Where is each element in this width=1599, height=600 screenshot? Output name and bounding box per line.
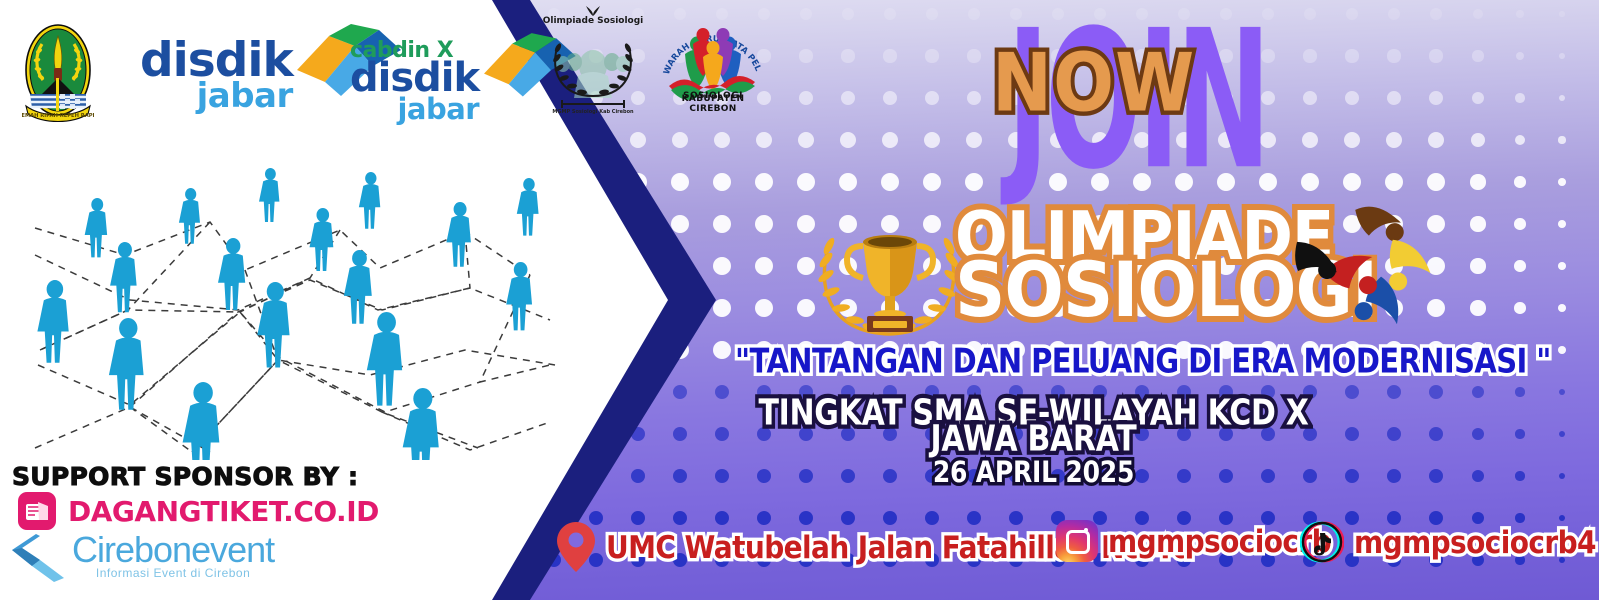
background-dot [881,173,899,191]
olimpiade-logo-caption: Olimpiade Sosiologi [536,16,650,26]
background-dot [884,8,896,20]
background-dot [1472,50,1483,61]
background-dot [841,49,854,62]
background-dot [713,173,731,191]
background-dot [671,173,689,191]
background-dot [841,91,856,106]
trophy-wreath-icon [805,192,975,347]
background-dot [967,49,980,62]
background-dot [1388,8,1400,20]
background-dot [713,215,731,233]
background-dot [923,173,941,191]
mgmp-line2: KABUPATEN CIREBON [657,94,769,114]
background-dot [1472,92,1485,105]
background-dot [924,132,940,148]
background-dot [1430,8,1442,20]
background-dot [840,132,856,148]
background-dot [925,91,940,106]
contact-instagram[interactable]: mgmpsociocrb [1056,520,1331,562]
event-level-line2: JAWA BARAT [234,418,1599,460]
background-dot [1387,91,1402,106]
cirebonevent-tagline: Informasi Event di Cirebon [72,566,274,580]
background-dot [1515,93,1524,102]
background-dot [1470,300,1485,315]
background-dot [1558,178,1566,186]
background-dot [1514,260,1526,272]
sponsor-cirebonevent: Cirebonevent Informasi Event di Cirebon [10,532,274,584]
background-dot [842,8,854,20]
background-dot [755,299,773,317]
colorful-people-icon [1292,196,1442,324]
seal-motto-text: GEMAH RIPAH REPEH RAPIH [22,113,94,119]
disdik-wordmark: disdik [140,40,293,81]
event-banner: GEMAH RIPAH REPEH RAPIH disdik jabar cab… [0,0,1599,600]
background-dot [755,215,773,233]
sponsor-dagangtiket: DAGANGTIKET.CO.ID [18,492,379,530]
cirebonevent-label: Cirebonevent [72,532,274,568]
background-dot [1386,132,1402,148]
event-date: 26 APRIL 2025 [234,455,1599,489]
background-dot [713,341,731,359]
background-dot [883,91,898,106]
cabdin-disdik-wordmark: disdik [350,61,479,96]
background-dot [799,91,814,106]
background-dot [1304,8,1316,20]
tiktok-icon [1300,520,1344,564]
background-dot [1516,52,1524,60]
background-dot [713,299,731,317]
background-dot [714,132,730,148]
background-dot [966,132,982,148]
background-dot [839,173,857,191]
background-dot [1346,8,1358,20]
background-dot [968,8,980,20]
background-dot [1427,173,1445,191]
dagangtiket-label: DAGANGTIKET.CO.ID [68,495,379,528]
now-headline: NOW [992,38,1195,131]
background-dot [1558,220,1566,228]
background-dot [883,49,896,62]
contact-tiktok-label: mgmpsociocrb4 [1354,524,1596,561]
background-dot [1558,136,1565,143]
background-dot [1558,262,1566,270]
background-dot [671,215,689,233]
background-dot [1344,132,1360,148]
olimpiade-logo-footer: MGMP Sosiologi Kab Cirebon [536,109,650,115]
background-dot [630,132,646,148]
background-dot [1514,218,1526,230]
olimpiade-sosiologi-logo: Olimpiade Sosiologi MGMP Sosiologi Kab C… [536,4,650,116]
background-dot [756,132,772,148]
background-dot [965,173,983,191]
background-dot [1387,49,1400,62]
background-dot [755,173,773,191]
background-dot [1303,49,1316,62]
background-dot [1429,49,1442,62]
background-dot [1470,174,1485,189]
instagram-icon [1056,520,1098,562]
contact-instagram-label: mgmpsociocrb [1108,523,1331,560]
dagangtiket-icon [18,492,56,530]
background-dot [1302,132,1318,148]
background-dot [799,49,812,62]
background-dot [755,257,773,275]
background-dot [1558,346,1566,354]
cirebonevent-icon [10,532,66,584]
background-dot [967,91,982,106]
background-dot [882,132,898,148]
background-dot [1345,91,1360,106]
event-tagline: "TANTANGAN DAN PELUANG DI ERA MODERNISAS… [735,341,1551,380]
background-dot [1429,91,1444,106]
background-dot [797,173,815,191]
background-dot [1559,11,1564,16]
background-dot [925,49,938,62]
background-dot [1514,176,1526,188]
background-dot [926,8,938,20]
background-dot [1559,95,1565,101]
background-dot [1559,53,1565,59]
background-dot [1558,304,1566,312]
background-dot [1470,258,1485,273]
contact-tiktok[interactable]: mgmpsociocrb4 [1300,520,1596,564]
background-dot [800,8,812,20]
jabar-seal-logo: GEMAH RIPAH REPEH RAPIH [22,18,94,126]
background-dot [798,132,814,148]
location-pin-icon [556,520,596,574]
mgmp-sosiologi-logo: MUSYAWARAH GURU MATA PELAJARAN SOSIOLOGI… [657,8,769,118]
background-dot [1385,173,1403,191]
background-dot [1516,10,1524,18]
background-dot [1473,9,1483,19]
background-dot [1303,91,1318,106]
background-dot [1470,216,1485,231]
background-dot [1471,133,1485,147]
background-dot [1428,132,1444,148]
background-dot [1345,49,1358,62]
background-dot [1301,173,1319,191]
background-dot [1515,135,1526,146]
background-dot [1514,302,1526,314]
background-dot [713,257,731,275]
background-dot [1343,173,1361,191]
background-dot [672,132,688,148]
